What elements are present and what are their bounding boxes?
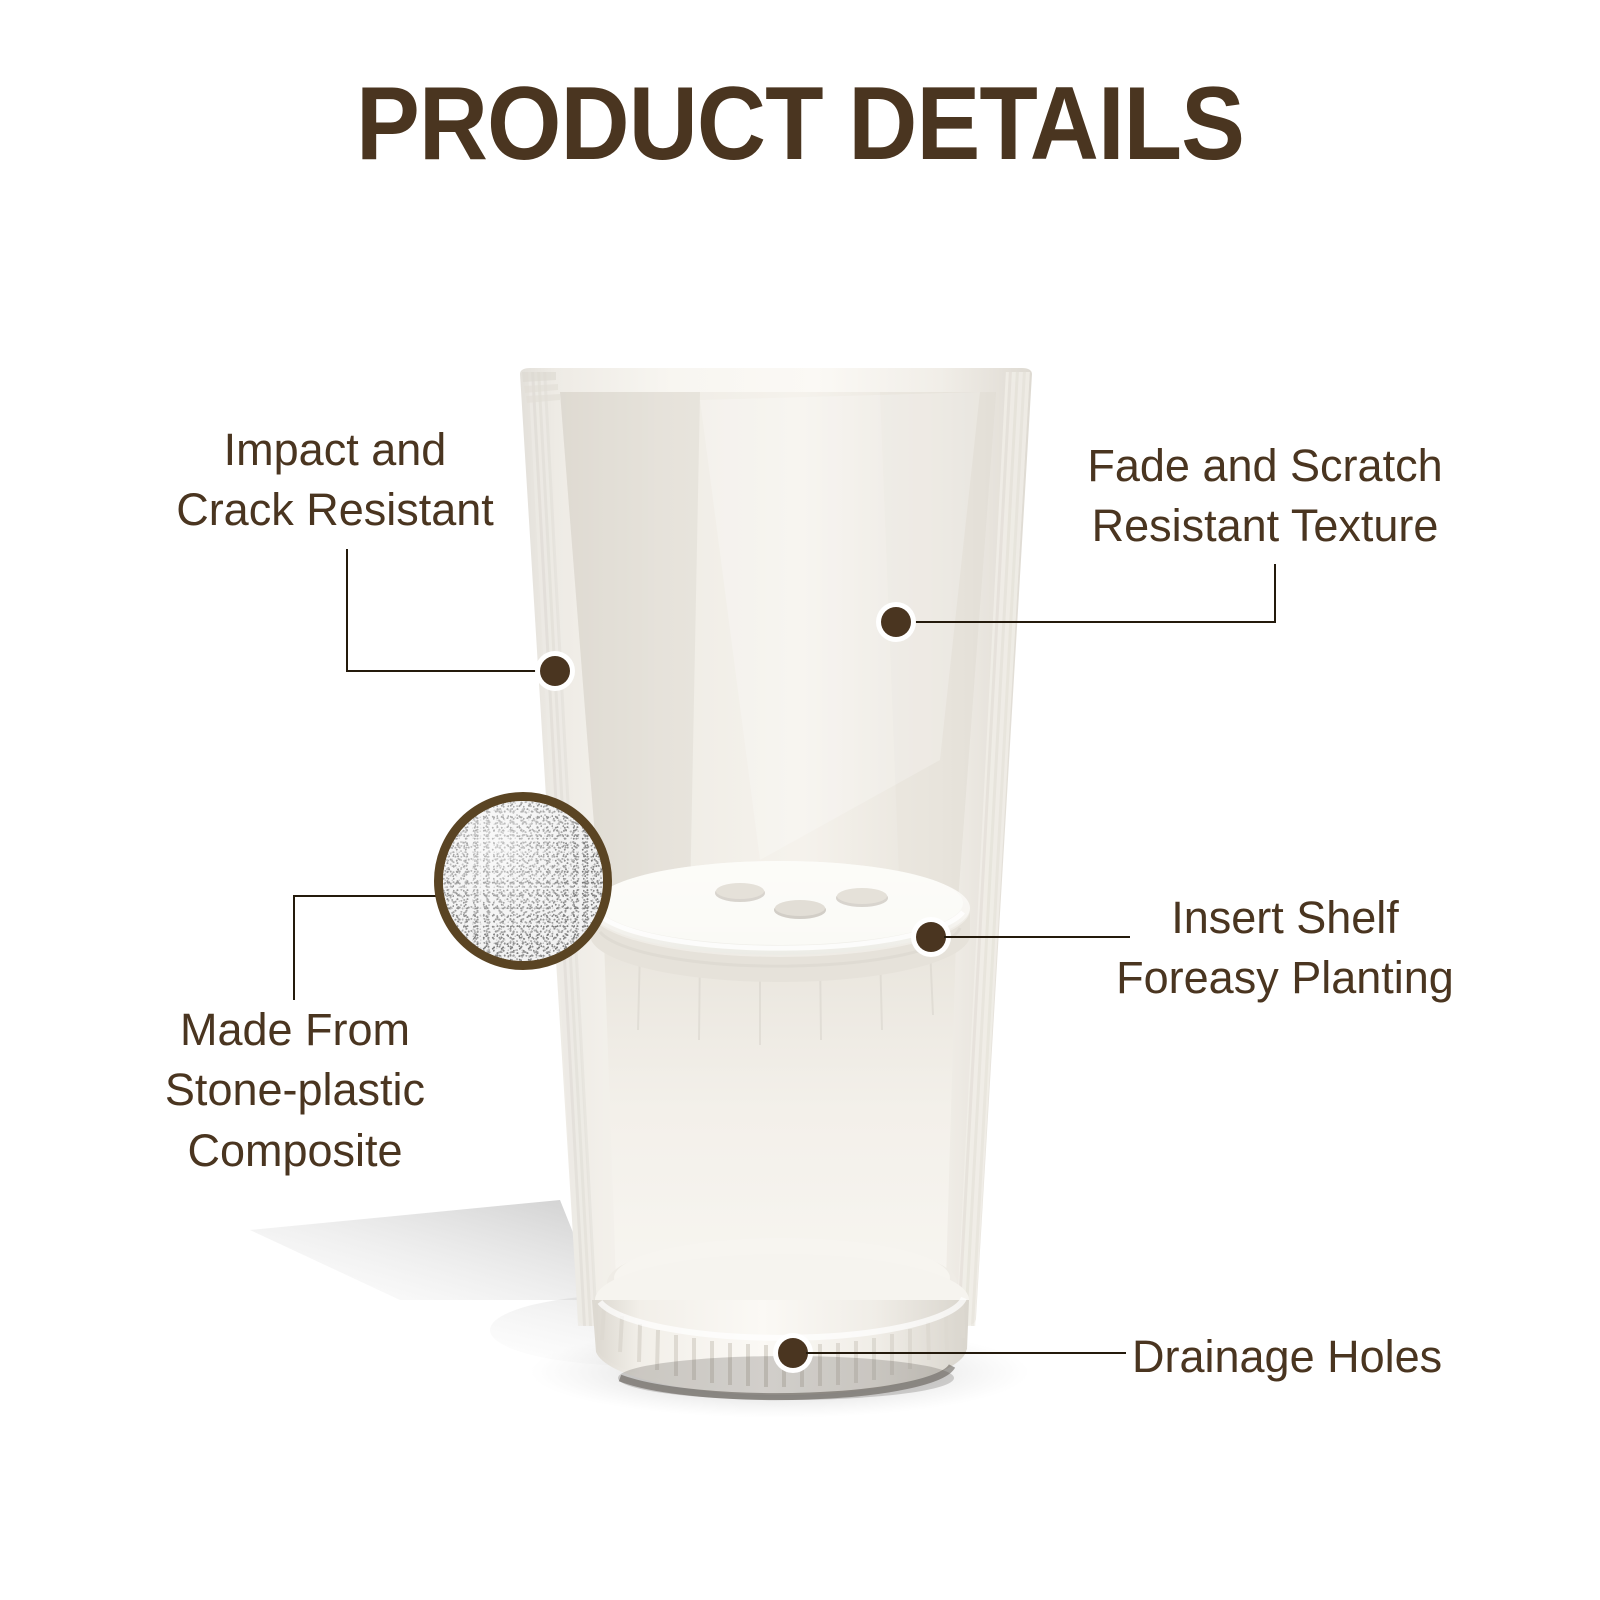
callout-drainage-holes-connector bbox=[806, 1352, 1126, 1354]
callout-insert-shelf-dot[interactable] bbox=[916, 922, 946, 952]
callout-fade-connector-horizontal bbox=[908, 621, 1276, 623]
callout-fade-scratch-label: Fade and Scratch Resistant Texture bbox=[1040, 436, 1490, 557]
callout-impact-crack-resistant-label: Impact and Crack Resistant bbox=[120, 420, 550, 541]
texture-sheen-overlay bbox=[443, 801, 603, 961]
callout-composite-label: Made From Stone-plastic Composite bbox=[80, 1000, 510, 1181]
infographic-canvas: PRODUCT DETAILS bbox=[0, 0, 1600, 1600]
callout-impact-dot[interactable] bbox=[540, 656, 570, 686]
callout-fade-dot[interactable] bbox=[881, 607, 911, 637]
callout-fade-connector-vertical bbox=[1274, 564, 1276, 622]
callout-insert-shelf-label: Insert Shelf Foreasy Planting bbox=[1070, 888, 1500, 1009]
callout-composite-connector-horizontal bbox=[293, 895, 445, 897]
callout-impact-connector-horizontal bbox=[346, 670, 564, 672]
callout-drainage-holes-dot[interactable] bbox=[778, 1338, 808, 1368]
callout-composite-connector-vertical bbox=[293, 895, 295, 1000]
callout-drainage-holes-label: Drainage Holes bbox=[1132, 1327, 1552, 1387]
callout-impact-connector-vertical bbox=[346, 549, 348, 671]
surface-texture-closeup-circle[interactable] bbox=[434, 792, 612, 970]
